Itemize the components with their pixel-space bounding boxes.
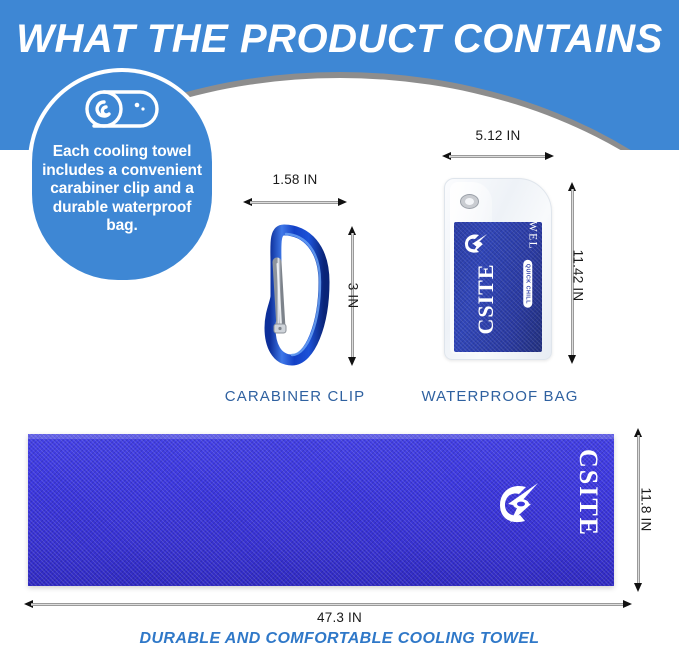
bag-quick-chill-badge: QUICK CHILL	[523, 260, 532, 308]
towel-brand-text: CSITE	[573, 449, 603, 537]
bag-width-arrow	[442, 152, 554, 161]
towel-height-label: 11.8 IN	[638, 488, 653, 532]
waterproof-bag-caption: WATERPROOF BAG	[412, 388, 588, 405]
towel-width-label: 47.3 IN	[0, 610, 679, 625]
bottom-caption: DURABLE AND COMFORTABLE COOLING TOWEL	[0, 630, 679, 648]
carabiner-clip-caption: CARABINER CLIP	[215, 388, 375, 405]
bag-grommet-hole	[460, 194, 479, 209]
carabiner-width-arrow	[243, 198, 347, 207]
cooling-towel-image: CSITE	[28, 434, 614, 586]
bag-width-label: 5.12 IN	[436, 128, 560, 143]
csite-swoosh-logo	[494, 480, 546, 526]
page-title: WHAT THE PRODUCT CONTAINS	[0, 16, 679, 62]
bag-brand-text: CSITE	[473, 244, 499, 352]
bag-inner-towel: CSITE COOLING TOWEL QUICK CHILL	[454, 222, 542, 352]
callout-badge: Each cooling towel includes a convenient…	[32, 72, 212, 280]
rolled-towel-icon	[80, 86, 164, 136]
waterproof-bag-image: CSITE COOLING TOWEL QUICK CHILL	[444, 178, 552, 360]
towel-width-arrow	[24, 600, 632, 609]
infographic-canvas: WHAT THE PRODUCT CONTAINS Each cooling t…	[0, 0, 679, 657]
callout-badge-text: Each cooling towel includes a convenient…	[32, 143, 212, 236]
bag-height-label: 11.42 IN	[570, 250, 585, 302]
carabiner-width-label: 1.58 IN	[232, 172, 358, 187]
bag-product-text: COOLING TOWEL	[527, 222, 539, 250]
carabiner-clip-image	[258, 220, 332, 368]
carabiner-height-label: 3 IN	[345, 283, 360, 309]
